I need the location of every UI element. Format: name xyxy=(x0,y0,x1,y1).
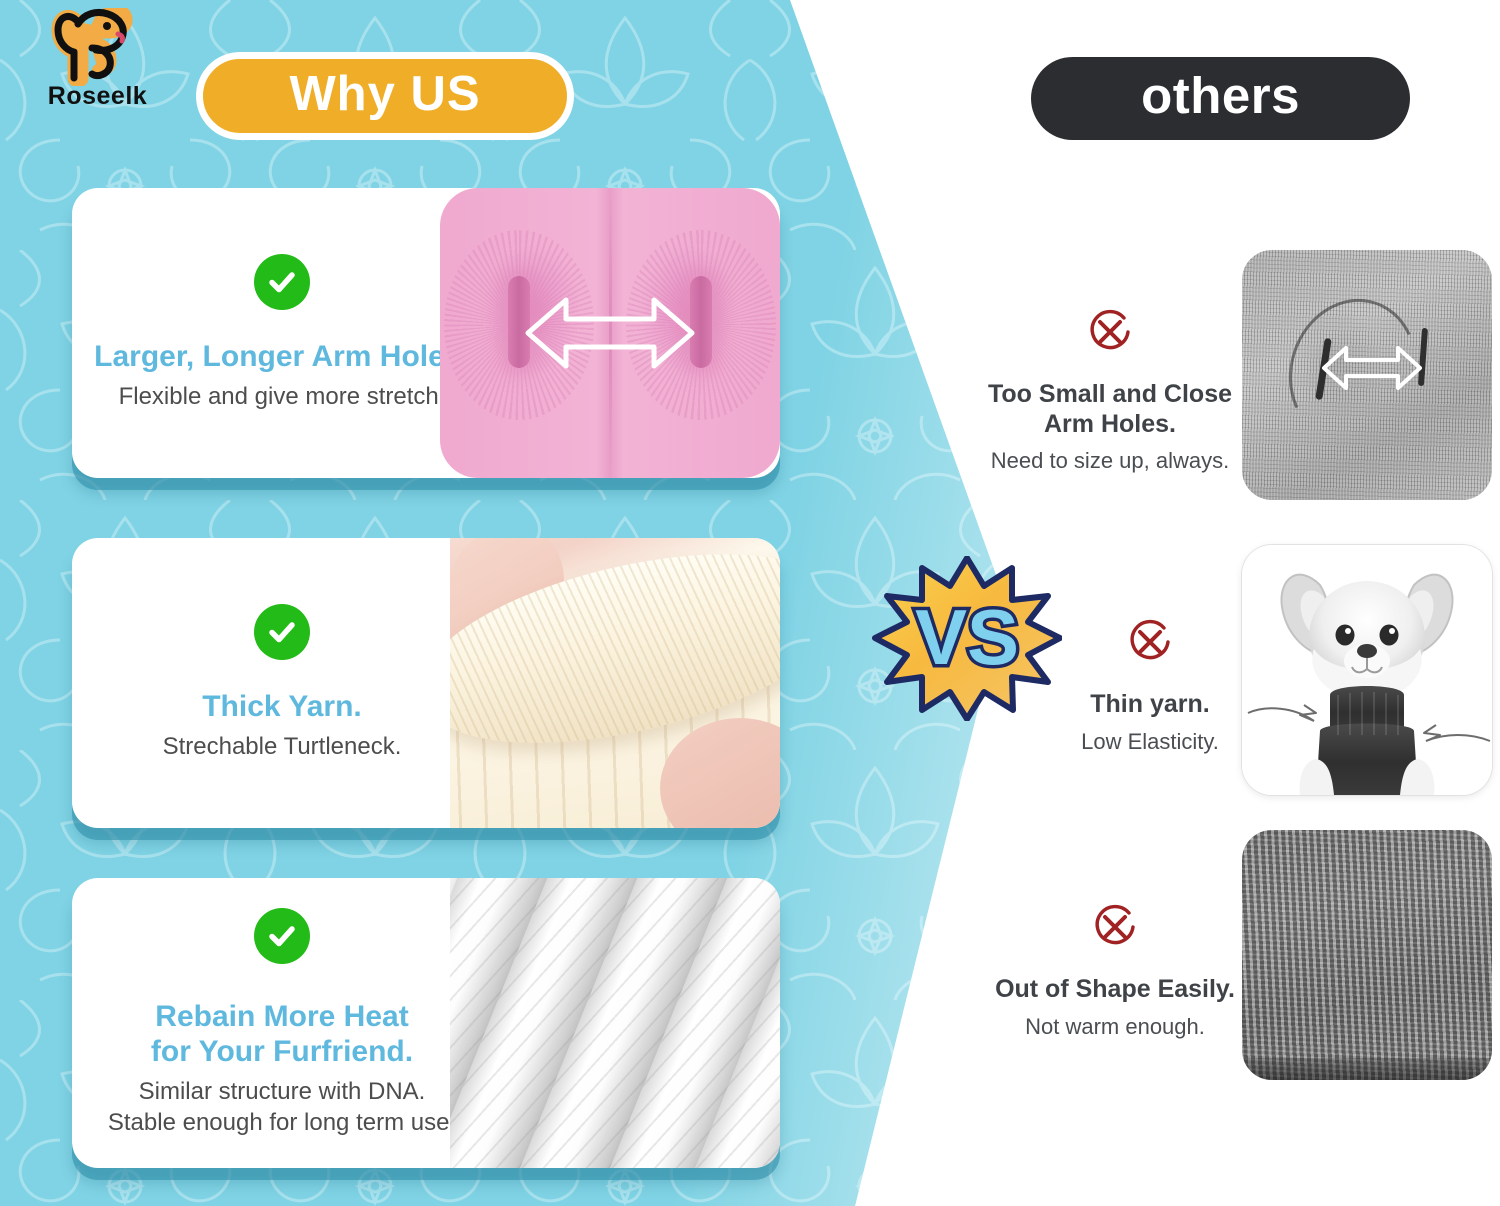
con-item-2-photo xyxy=(1242,545,1492,795)
con-item-2-text: Thin yarn. Low Elasticity. xyxy=(1040,545,1260,820)
green-check-icon xyxy=(254,254,310,310)
infographic-stage: Roseelk Why US others Larger, Longer Arm… xyxy=(0,0,1500,1206)
red-x-icon xyxy=(1089,901,1141,953)
dog-head-r-logo-icon xyxy=(48,8,148,86)
knit-hem xyxy=(1242,1058,1492,1080)
pro-card-2-photo xyxy=(450,538,780,828)
cream-turtleneck-image xyxy=(450,538,780,828)
gray-stretched-knit-image xyxy=(1242,830,1492,1080)
pro-card-1-photo xyxy=(440,188,780,478)
brand-name: Roseelk xyxy=(30,82,165,111)
con-item-3-title: Out of Shape Easily. xyxy=(995,975,1235,1005)
con-item-3: Out of Shape Easily. Not warm enough. xyxy=(980,830,1492,1105)
pro-card-2-text: Thick Yarn. Strechable Turtleneck. xyxy=(72,538,492,828)
con-item-2: Thin yarn. Low Elasticity. xyxy=(980,545,1492,820)
con-item-1: Too Small and Close Arm Holes. Need to s… xyxy=(980,250,1492,525)
pro-card-1-title: Larger, Longer Arm Holes. xyxy=(94,340,470,375)
pro-card-3-subtitle: Similar structure with DNA. Stable enoug… xyxy=(108,1076,456,1138)
chihuahua-black-sweater-image xyxy=(1242,545,1492,795)
green-check-icon xyxy=(254,604,310,660)
red-x-icon xyxy=(1124,616,1176,668)
con-item-3-subtitle: Not warm enough. xyxy=(1025,1013,1205,1041)
gray-small-armholes-image xyxy=(1242,250,1492,500)
sweater-seam xyxy=(609,188,612,478)
pink-sweater-armholes-image xyxy=(440,188,780,478)
con-item-3-text: Out of Shape Easily. Not warm enough. xyxy=(980,830,1250,1105)
pro-card-1-text: Larger, Longer Arm Holes. Flexible and g… xyxy=(72,188,492,478)
con-item-1-subtitle: Need to size up, always. xyxy=(991,447,1229,475)
con-item-2-subtitle: Low Elasticity. xyxy=(1081,728,1219,756)
pro-card-3-photo xyxy=(450,878,780,1168)
why-us-label: Why US xyxy=(289,66,480,122)
pro-card-1: Larger, Longer Arm Holes. Flexible and g… xyxy=(72,188,780,478)
pro-card-3-title: Rebain More Heat for Your Furfriend. xyxy=(151,1000,413,1070)
pro-card-1-subtitle: Flexible and give more stretch. xyxy=(119,381,446,412)
why-us-badge: Why US xyxy=(196,52,574,140)
con-item-1-photo xyxy=(1242,250,1492,500)
con-item-2-title: Thin yarn. xyxy=(1090,690,1209,720)
armhole-right xyxy=(690,276,712,368)
armhole-left xyxy=(508,276,530,368)
pro-card-2-subtitle: Strechable Turtleneck. xyxy=(163,731,402,762)
green-check-icon xyxy=(254,908,310,964)
pro-card-3: Rebain More Heat for Your Furfriend. Sim… xyxy=(72,878,780,1168)
red-x-icon xyxy=(1084,306,1136,358)
knit-texture xyxy=(1242,830,1492,1080)
pro-card-3-text: Rebain More Heat for Your Furfriend. Sim… xyxy=(72,878,492,1168)
white-twisted-yarn-image xyxy=(450,878,780,1168)
others-label: others xyxy=(1141,66,1300,125)
con-item-3-photo xyxy=(1242,830,1492,1080)
con-item-1-title: Too Small and Close Arm Holes. xyxy=(988,380,1232,439)
pro-card-2-title: Thick Yarn. xyxy=(202,690,362,725)
others-badge: others xyxy=(1031,57,1410,140)
pro-card-2: Thick Yarn. Strechable Turtleneck. xyxy=(72,538,780,828)
brand-logo: Roseelk xyxy=(30,8,165,123)
con-item-1-text: Too Small and Close Arm Holes. Need to s… xyxy=(980,250,1240,525)
